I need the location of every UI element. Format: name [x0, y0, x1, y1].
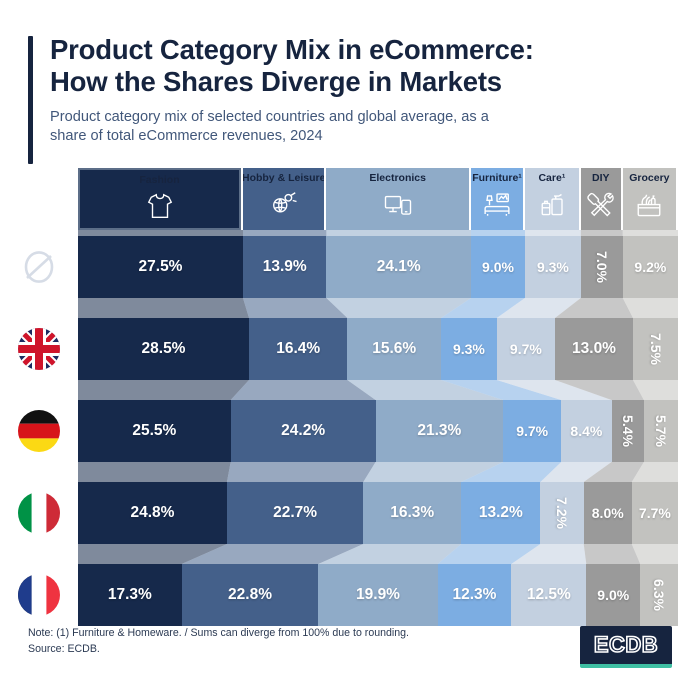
- bar-segment-value: 9.3%: [453, 341, 485, 357]
- global-average-icon-glyph: [17, 245, 61, 289]
- footer-note: Note: (1) Furniture & Homeware. / Sums c…: [28, 626, 672, 658]
- flag-uk-icon: [0, 318, 78, 380]
- page-title: Product Category Mix in eCommerce: How t…: [50, 34, 672, 99]
- bar-segment[interactable]: 27.5%: [78, 236, 243, 298]
- bar-segment[interactable]: 16.4%: [249, 318, 347, 380]
- page-subtitle: Product category mix of selected countri…: [50, 108, 672, 147]
- bar-segment[interactable]: 15.6%: [347, 318, 441, 380]
- bar-segment-value: 16.3%: [390, 504, 434, 522]
- bar-segment[interactable]: 25.5%: [78, 400, 231, 462]
- global-average-icon: [0, 236, 78, 298]
- bar-segment[interactable]: 7.5%: [633, 318, 678, 380]
- bar-segment-value: 9.2%: [634, 259, 666, 275]
- bar-segment-value: 25.5%: [132, 422, 176, 440]
- title-accent-bar: [28, 36, 33, 164]
- bar-segment[interactable]: 28.5%: [78, 318, 249, 380]
- bar-segment-value: 7.7%: [639, 505, 671, 521]
- bar-segment[interactable]: 5.7%: [644, 400, 678, 462]
- flag-germany-icon-glyph: [17, 409, 61, 453]
- bar-segment[interactable]: 7.7%: [632, 482, 678, 544]
- bar-segment[interactable]: 8.4%: [561, 400, 611, 462]
- bar-segment[interactable]: 7.0%: [581, 236, 623, 298]
- bar-segment[interactable]: 7.2%: [540, 482, 583, 544]
- flow-band: [584, 544, 641, 564]
- chart-grid: FashionHobby & LeisureElectronicsFurnitu…: [78, 168, 678, 626]
- bar-segment[interactable]: 9.7%: [503, 400, 561, 462]
- bar-segment-value: 21.3%: [417, 422, 461, 440]
- bar-segment-value: 9.7%: [510, 341, 542, 357]
- bar-segment-value: 9.7%: [516, 423, 548, 439]
- bar-segment-value: 9.0%: [482, 259, 514, 275]
- bar-segment[interactable]: 17.3%: [78, 564, 182, 626]
- bar-segment-value: 5.7%: [653, 415, 669, 447]
- bar-segment-value: 17.3%: [108, 586, 152, 604]
- footer: Note: (1) Furniture & Homeware. / Sums c…: [28, 626, 672, 682]
- bar-segment-value: 13.2%: [479, 504, 523, 522]
- bar-segment-value: 7.5%: [647, 333, 663, 365]
- bar-segment-value: 7.2%: [554, 497, 570, 529]
- bar-segment[interactable]: 24.1%: [326, 236, 471, 298]
- bar-segment-value: 9.0%: [597, 587, 629, 603]
- bar-segment[interactable]: 13.2%: [461, 482, 540, 544]
- bar-segment-value: 9.3%: [537, 259, 569, 275]
- bar-segment[interactable]: 24.8%: [78, 482, 227, 544]
- bar-segment[interactable]: 9.0%: [586, 564, 640, 626]
- bar-segment-value: 24.2%: [281, 422, 325, 440]
- bar-segment-value: 6.3%: [651, 579, 667, 611]
- bar-segment-value: 8.0%: [592, 505, 624, 521]
- flow-band: [227, 462, 376, 482]
- bar-segment[interactable]: 12.3%: [438, 564, 512, 626]
- bar-segment-value: 24.1%: [377, 258, 421, 276]
- bar-segment[interactable]: 9.7%: [497, 318, 555, 380]
- bar-segment[interactable]: 16.3%: [363, 482, 461, 544]
- bar-segment[interactable]: 5.4%: [612, 400, 644, 462]
- flag-france-icon: [0, 564, 78, 626]
- bar-segment[interactable]: 13.9%: [243, 236, 326, 298]
- ecdb-logo-text: ECDB: [594, 632, 658, 658]
- flow-band: [78, 462, 231, 482]
- bar-segment[interactable]: 13.0%: [555, 318, 633, 380]
- row-flag-column: [0, 168, 78, 626]
- bar-segment[interactable]: 12.5%: [511, 564, 586, 626]
- bar-segment-value: 5.4%: [620, 415, 636, 447]
- bar-segment-value: 22.8%: [228, 586, 272, 604]
- flag-italy-icon-glyph: [17, 491, 61, 535]
- bar-segment-value: 13.0%: [572, 340, 616, 358]
- stacked-bar-chart: FashionHobby & LeisureElectronicsFurnitu…: [0, 168, 700, 626]
- bar-segment-value: 22.7%: [273, 504, 317, 522]
- bar-segment[interactable]: 9.2%: [623, 236, 678, 298]
- bar-segment[interactable]: 8.0%: [584, 482, 632, 544]
- bar-segment[interactable]: 9.3%: [525, 236, 581, 298]
- bar-segment-value: 8.4%: [570, 423, 602, 439]
- ecdb-logo: ECDB: [580, 626, 672, 668]
- bar-segment-value: 12.3%: [453, 586, 497, 604]
- bar-segment-value: 15.6%: [372, 340, 416, 358]
- flag-uk-icon-glyph: [17, 327, 61, 371]
- bar-segment-value: 13.9%: [263, 258, 307, 276]
- bar-segment[interactable]: 9.3%: [441, 318, 497, 380]
- bar-segment-value: 27.5%: [139, 258, 183, 276]
- bar-segment[interactable]: 19.9%: [318, 564, 437, 626]
- bar-segment-value: 16.4%: [276, 340, 320, 358]
- bar-segment[interactable]: 22.8%: [182, 564, 319, 626]
- bar-segment-value: 24.8%: [130, 504, 174, 522]
- bar-segment[interactable]: 6.3%: [640, 564, 678, 626]
- flow-band: [78, 298, 249, 318]
- bar-segment-value: 19.9%: [356, 586, 400, 604]
- bar-segment[interactable]: 22.7%: [227, 482, 363, 544]
- bar-segment[interactable]: 24.2%: [231, 400, 376, 462]
- bar-segment-value: 12.5%: [527, 586, 571, 604]
- header: Product Category Mix in eCommerce: How t…: [0, 0, 700, 146]
- flow-band: [78, 380, 249, 400]
- flag-italy-icon: [0, 482, 78, 544]
- bar-segment-value: 28.5%: [142, 340, 186, 358]
- bar-segment[interactable]: 9.0%: [471, 236, 525, 298]
- flag-germany-icon: [0, 400, 78, 462]
- flag-france-icon-glyph: [17, 573, 61, 617]
- bar-segment[interactable]: 21.3%: [376, 400, 504, 462]
- bar-segment-value: 7.0%: [594, 251, 610, 283]
